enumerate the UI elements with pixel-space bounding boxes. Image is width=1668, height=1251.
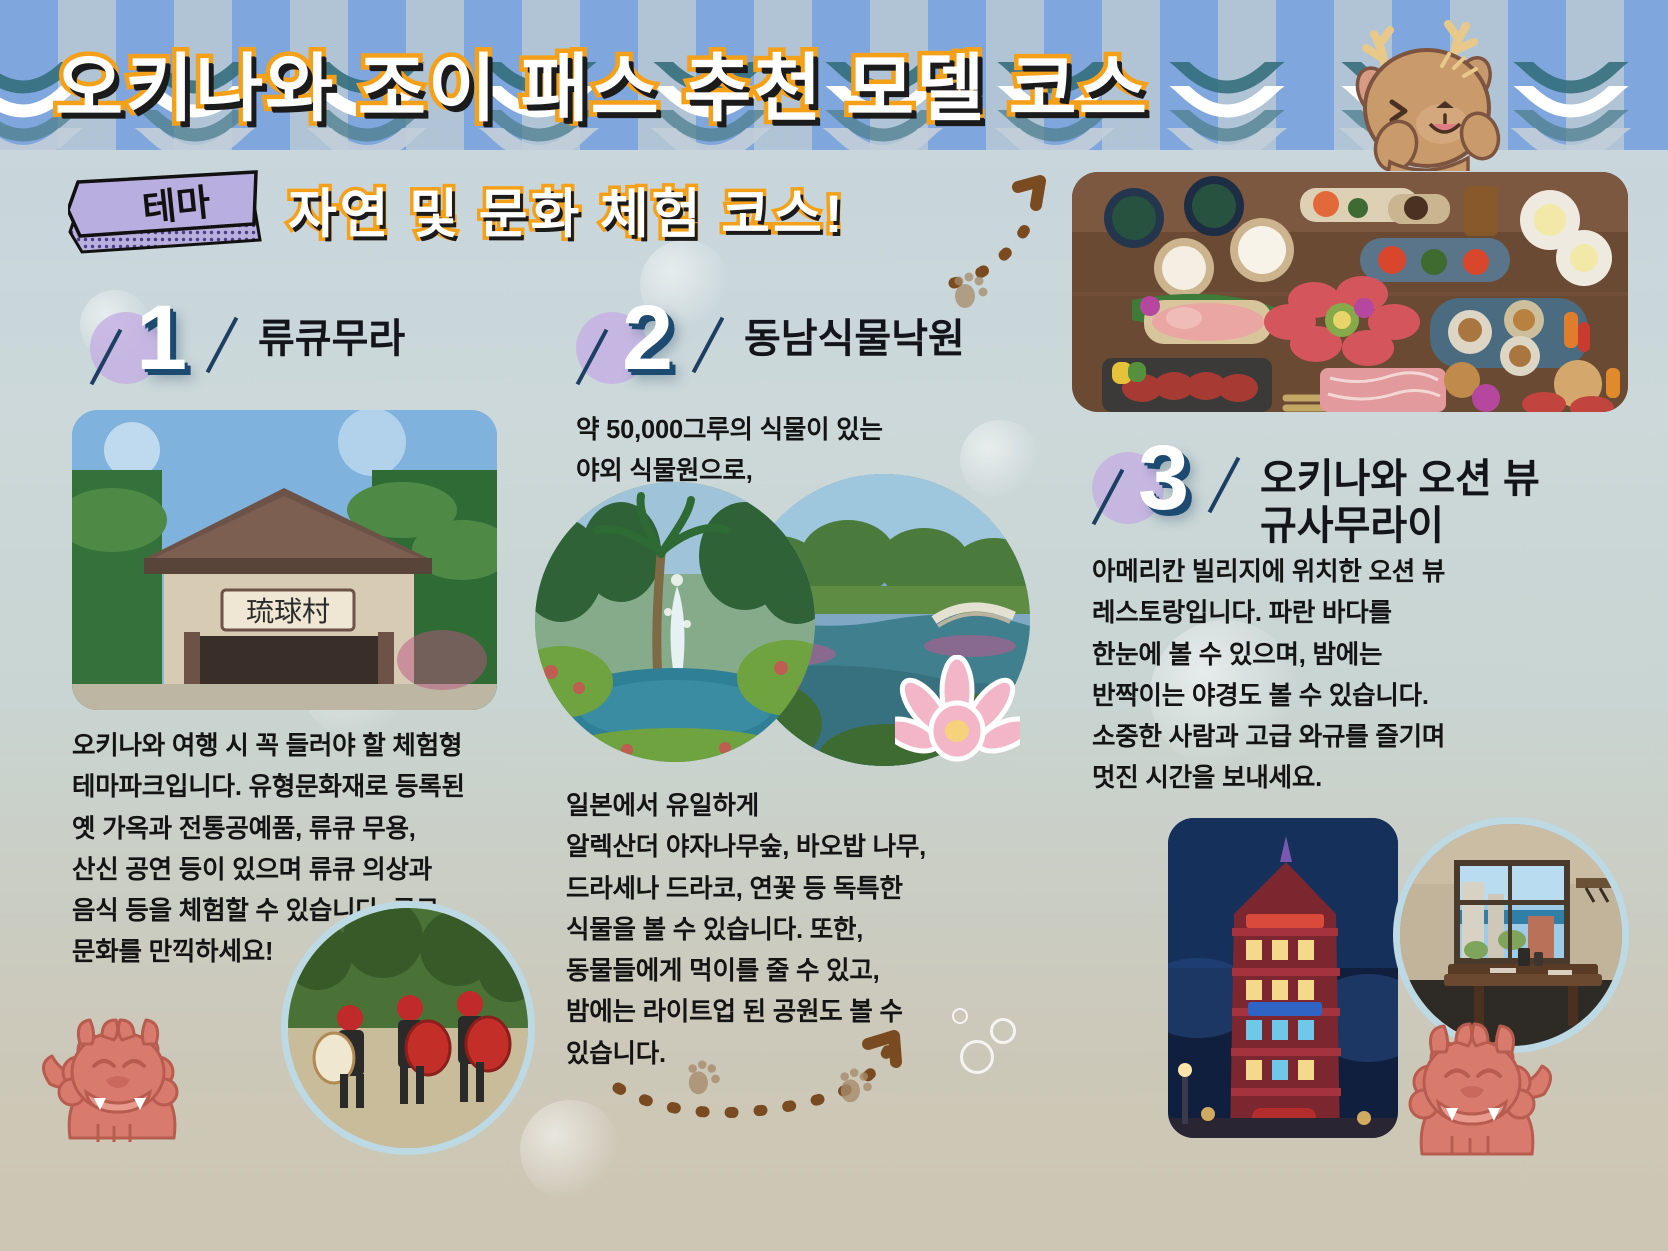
lotus-flower-sticker-icon — [895, 655, 1020, 773]
slash-decor — [1208, 457, 1241, 514]
svg-text:琉球村: 琉球村 — [246, 596, 330, 628]
page-subtitle: 자연 및 문화 체험 코스! — [288, 172, 845, 248]
photo-wagyu-course-meal — [1072, 172, 1628, 412]
photo-hotel-exterior-night — [1168, 818, 1398, 1138]
section-title: 동남식물낙원 — [744, 316, 965, 363]
title-block: 오키나와 조이 패스 추천 모델 코스 — [55, 52, 1315, 126]
slash-decor — [692, 317, 725, 374]
section-number: 2 — [622, 292, 673, 384]
shisa-lion-left-icon — [36, 988, 198, 1148]
bokeh-decor — [520, 1100, 620, 1200]
section-header-2: 2 동남식물낙원 — [576, 306, 1016, 398]
section-header-1: 1 류큐무라 — [90, 306, 510, 398]
section-number: 1 — [136, 292, 187, 384]
deer-mascot-icon — [1330, 0, 1520, 171]
section-title: 류큐무라 — [258, 316, 405, 363]
section-header-3: 3 오키나와 오션 뷰 규사무라이 — [1092, 446, 1562, 554]
shisa-lion-right-icon — [1382, 996, 1560, 1162]
section-title: 오키나와 오션 뷰 규사무라이 — [1260, 456, 1540, 550]
photo-botanical-fountain — [535, 482, 815, 762]
page-title: 오키나와 조이 패스 추천 모델 코스 — [55, 52, 1315, 126]
photo-eisa-drum-performance — [288, 908, 528, 1148]
section-number: 3 — [1138, 432, 1189, 524]
section-body-2-bottom: 일본에서 유일하게 알렉산더 야자나무숲, 바오밥 나무, 드라세나 드라코, … — [566, 786, 996, 1075]
poster-canvas: 오키나와 조이 패스 추천 모델 코스 테마 자연 및 문화 체험 코스! — [0, 0, 1668, 1251]
slash-decor — [206, 317, 239, 374]
dashed-arrow-icon — [940, 165, 1060, 290]
section-body-2-top: 약 50,000그루의 식물이 있는 야외 식물원으로, — [576, 410, 996, 493]
section-body-3: 아메리칸 빌리지에 위치한 오션 뷰 레스토랑입니다. 파란 바다를 한눈에 볼… — [1092, 552, 1562, 800]
photo-ryukyu-village-gate: 琉球村 — [72, 410, 497, 710]
theme-badge: 테마 — [68, 166, 268, 258]
